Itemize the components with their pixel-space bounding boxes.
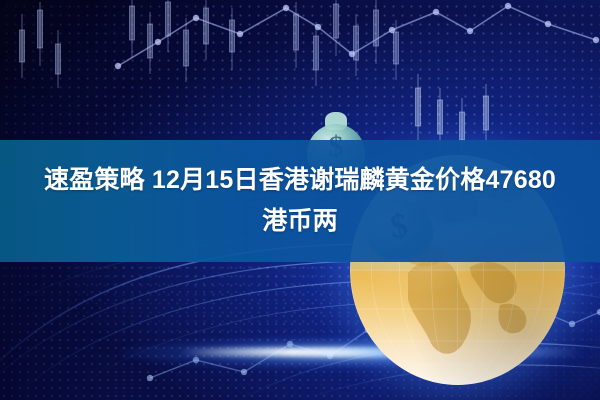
headline-line-2: 港币两 xyxy=(262,201,338,242)
thumbnail-canvas: $ $ 速盈策略 12月15日香港谢瑞麟黄金价格47680 港币两 xyxy=(0,0,600,400)
headline: 速盈策略 12月15日香港谢瑞麟黄金价格47680 港币两 xyxy=(0,140,600,262)
headline-line-1: 速盈策略 12月15日香港谢瑞麟黄金价格47680 xyxy=(44,160,556,201)
candlestick-group-upper xyxy=(20,0,399,88)
